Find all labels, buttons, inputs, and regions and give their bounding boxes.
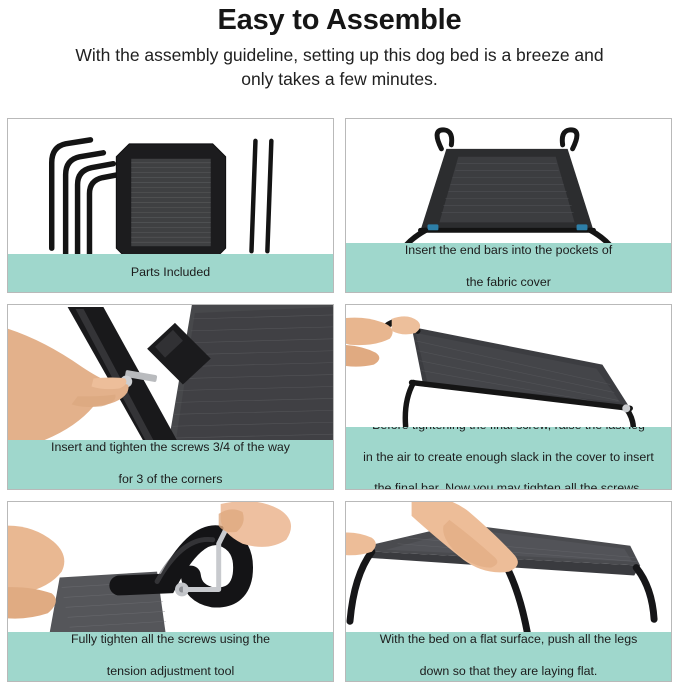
insert-end-bars-photo [346, 119, 671, 243]
caption-line: Fully tighten all the screws using the [14, 632, 327, 648]
insert-end-bars-illustration [346, 119, 671, 243]
step-panel-1: Parts Included [7, 118, 334, 293]
step-panel-2: Insert the end bars into the pockets of … [345, 118, 672, 293]
caption-line: With the bed on a flat surface, push all… [352, 632, 665, 648]
flatten-legs-illustration [346, 502, 671, 632]
flatten-legs-photo [346, 502, 671, 632]
step-panel-4: Before tightening the final screw, raise… [345, 304, 672, 490]
page-title: Easy to Assemble [40, 4, 639, 36]
caption-line: the fabric cover [352, 275, 665, 291]
caption-line: tension adjustment tool [14, 664, 327, 680]
step-caption-2: Insert the end bars into the pockets of … [346, 243, 671, 292]
fabric-cover-part [116, 144, 225, 254]
caption-line: in the air to create enough slack in the… [352, 450, 665, 466]
step-panel-6: With the bed on a flat surface, push all… [345, 501, 672, 682]
corner-tab [427, 224, 438, 230]
step-panel-5: Fully tighten all the screws using the t… [7, 501, 334, 682]
raise-last-leg-illustration [346, 305, 671, 427]
raise-last-leg-photo [346, 305, 671, 427]
tension-adjustment-tool-photo [8, 502, 333, 632]
page-subtitle: With the assembly guideline, setting up … [40, 44, 639, 90]
caption-line: Insert and tighten the screws 3/4 of the… [14, 440, 327, 456]
step-caption-4: Before tightening the final screw, raise… [346, 427, 671, 489]
parts-layout-photo [8, 119, 333, 254]
caption-line: Insert the end bars into the pockets of [352, 243, 665, 259]
caption-line: the final bar. Now you may tighten all t… [352, 481, 665, 490]
tension-tool-illustration [8, 502, 333, 632]
caption-line: for 3 of the corners [14, 472, 327, 488]
tighten-corner-screws-photo [8, 305, 333, 440]
caption-line: Parts Included [14, 265, 327, 281]
parts-layout-illustration [8, 119, 333, 254]
caption-line: down so that they are laying flat. [352, 664, 665, 680]
step-caption-3: Insert and tighten the screws 3/4 of the… [8, 440, 333, 489]
screw [622, 404, 630, 412]
assembly-step-grid: Parts Included [7, 118, 672, 682]
step-panel-3: Insert and tighten the screws 3/4 of the… [7, 304, 334, 490]
tighten-corner-screws-illustration [8, 305, 333, 440]
infographic-page: Easy to Assemble With the assembly guide… [0, 0, 679, 674]
step-caption-1: Parts Included [8, 254, 333, 292]
header: Easy to Assemble With the assembly guide… [0, 0, 679, 91]
corner-tab [577, 224, 588, 230]
